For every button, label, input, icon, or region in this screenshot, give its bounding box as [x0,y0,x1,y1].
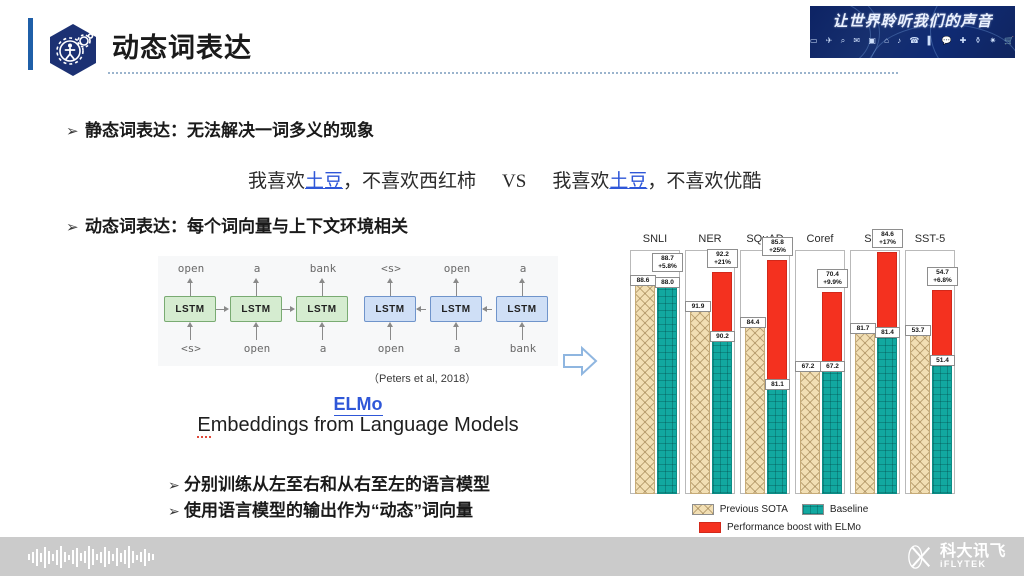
bar-elmo-boost [767,260,787,382]
legend-swatch-sota-icon [692,504,714,515]
legend-label-sota: Previous SOTA [720,504,788,515]
footer-brand-cn: 科大讯飞 [940,544,1006,559]
value-label-sota: 91.9 [685,301,711,313]
chart-legend-row-boost: Performance boost with ELMo [650,522,910,533]
bwd-input-token: a [430,342,484,355]
legend-swatch-boost-icon [699,522,721,533]
bullet-arrow-icon: ➢ [168,503,184,520]
legend-item-elmo-boost: Performance boost with ELMo [699,522,861,533]
bar-previous-sota [745,320,765,494]
title-divider [108,72,898,74]
value-label-baseline: 90.2 [710,331,735,343]
example-sentence: 我喜欢土豆，不喜欢西红柿VS我喜欢土豆，不喜欢优酷 [248,166,761,193]
bar-previous-sota [635,278,655,494]
footer-brand-en: iFLYTEK [940,559,1006,570]
legend-item-previous-sota: Previous SOTA [692,504,788,515]
heading-static-label: 静态词表达：无法解决一词多义的现象 [85,121,374,140]
elmo-abbreviation-text: ELMo [334,394,383,416]
heading-dynamic-label: 动态词表达：每个词向量与上下文环境相关 [85,217,408,236]
bar-elmo-boost [822,292,842,364]
sub-bullet-2-label: 使用语言模型的输出作为“动态”词向量 [184,501,473,520]
sub-bullet-train-bidirectional: ➢分别训练从左至右和从右至左的语言模型 [168,470,490,495]
fwd-output-token: bank [296,262,350,275]
legend-item-baseline: Baseline [802,504,868,515]
bwd-output-token: <s> [364,262,418,275]
task-group-sst5: SST-5 53.7 51.4 54.7+6.8% [905,250,955,494]
heading-static-word-representation: ➢静态词表达：无法解决一词多义的现象 [66,116,374,141]
elmo-expansion-head: E [197,414,210,438]
paper-citation: （Peters et al, 2018） [368,370,476,386]
legend-swatch-baseline-icon [802,504,824,515]
bar-baseline [712,334,732,494]
task-group-coref: Coref 67.2 67.2 70.4+9.9% [795,250,845,494]
task-label: Coref [795,233,845,245]
example-right-pre: 我喜欢 [552,171,609,192]
lstm-cell-backward: LSTM [364,296,416,322]
example-right-post: ，不喜欢优酷 [647,171,761,192]
legend-label-boost: Performance boost with ELMo [727,522,861,533]
task-group-snli: SNLI 88.6 88.0 88.7+5.8% [630,250,680,494]
example-left-pre: 我喜欢 [248,171,305,192]
bar-previous-sota [855,326,875,494]
bwd-input-token: open [364,342,418,355]
fwd-output-token: open [164,262,218,275]
value-label-baseline: 67.2 [820,361,845,373]
task-label: SST-5 [905,233,955,245]
value-label-sota: 53.7 [905,325,931,337]
iflytek-logo-icon [907,544,933,570]
fwd-input-token: open [230,342,284,355]
value-label-elmo: 85.8+25% [762,237,793,256]
elmo-expansion: Embeddings from Language Models [138,414,578,437]
value-label-elmo: 84.6+17% [872,229,903,248]
value-label-baseline: 51.4 [930,355,955,367]
example-right-keyword: 土豆 [609,171,647,192]
value-label-sota: 67.2 [795,361,821,373]
right-arrow-icon [562,344,598,378]
title-accent-bar [28,18,33,70]
value-label-sota: 81.7 [850,323,876,335]
hexagon-gear-person-icon [45,22,101,78]
value-label-baseline: 81.4 [875,327,900,339]
slide-header: 动态词表达 让世界聆听我们的声音 ▭ ✈ ⌕ ✉ ▣ ⌂ ♪ ☎ ▌ 💬 ✚ ⚱… [0,0,1024,92]
bar-previous-sota [800,364,820,494]
banner-icon-row: ▭ ✈ ⌕ ✉ ▣ ⌂ ♪ ☎ ▌ 💬 ✚ ⚱ ✷ 🛒 📄 [810,36,1015,46]
fwd-input-token: <s> [164,342,218,355]
value-label-sota: 88.6 [630,275,656,287]
task-group-squad: SQuAD 84.4 81.1 85.8+25% [740,250,790,494]
value-label-baseline: 81.1 [765,379,790,391]
task-label: SNLI [630,233,680,245]
bar-previous-sota [690,304,710,494]
bar-previous-sota [910,328,930,494]
bullet-arrow-icon: ➢ [66,218,85,236]
bar-elmo-boost [932,290,952,358]
bar-baseline [657,279,677,494]
bar-baseline [877,330,897,494]
bwd-output-token: open [430,262,484,275]
task-group-ner: NER 91.9 90.2 92.2+21% [685,250,735,494]
example-left-keyword: 土豆 [305,171,343,192]
fwd-input-token: a [296,342,350,355]
elmo-expansion-tail: mbeddings from Language Models [211,414,519,436]
page-title: 动态词表达 [112,26,252,65]
bar-elmo-boost [712,272,732,334]
chart-legend-row-primary: Previous SOTA Baseline [650,504,910,515]
bullet-arrow-icon: ➢ [66,122,85,140]
value-label-elmo: 88.7+5.8% [652,253,683,272]
lstm-cell-forward: LSTM [296,296,348,322]
bullet-arrow-icon: ➢ [168,477,184,494]
value-label-elmo: 70.4+9.9% [817,269,848,288]
elmo-abbreviation: ELMo [158,394,558,415]
lstm-cell-backward: LSTM [496,296,548,322]
lstm-cell-forward: LSTM [164,296,216,322]
audio-waveform-icon [28,545,154,569]
banner-script-text: 让世界聆听我们的声音 [810,10,1015,31]
lstm-cell-forward: LSTM [230,296,282,322]
bwd-input-token: bank [496,342,550,355]
value-label-baseline: 88.0 [655,277,680,289]
value-label-sota: 84.4 [740,317,766,329]
bwd-output-token: a [496,262,550,275]
example-vs-label: VS [502,171,526,192]
footer-brand-lockup: 科大讯飞 iFLYTEK [907,544,1006,570]
bar-baseline [822,364,842,494]
example-left-post: ，不喜欢西红柿 [343,171,476,192]
bar-baseline [932,358,952,494]
lstm-cell-backward: LSTM [430,296,482,322]
value-label-elmo: 92.2+21% [707,249,738,268]
value-label-elmo: 54.7+6.8% [927,267,958,286]
fwd-output-token: a [230,262,284,275]
legend-label-baseline: Baseline [830,504,868,515]
sub-bullet-1-label: 分别训练从左至右和从右至左的语言模型 [184,475,490,494]
elmo-lstm-diagram: open a bank <s> open a LSTM LSTM LSTM LS… [158,256,558,366]
slide-footer: 科大讯飞 iFLYTEK [0,537,1024,576]
sub-bullet-dynamic-embedding: ➢使用语言模型的输出作为“动态”词向量 [168,496,473,521]
task-group-srl: SRL 81.7 81.4 84.6+17% [850,250,900,494]
brand-banner: 让世界聆听我们的声音 ▭ ✈ ⌕ ✉ ▣ ⌂ ♪ ☎ ▌ 💬 ✚ ⚱ ✷ 🛒 📄 [810,6,1015,58]
elmo-benchmark-chart: SNLI 88.6 88.0 88.7+5.8% NER 91.9 90.2 9… [614,232,946,536]
heading-dynamic-word-representation: ➢动态词表达：每个词向量与上下文环境相关 [66,212,408,237]
task-label: NER [685,233,735,245]
bar-baseline [767,382,787,494]
bar-elmo-boost [877,252,897,330]
